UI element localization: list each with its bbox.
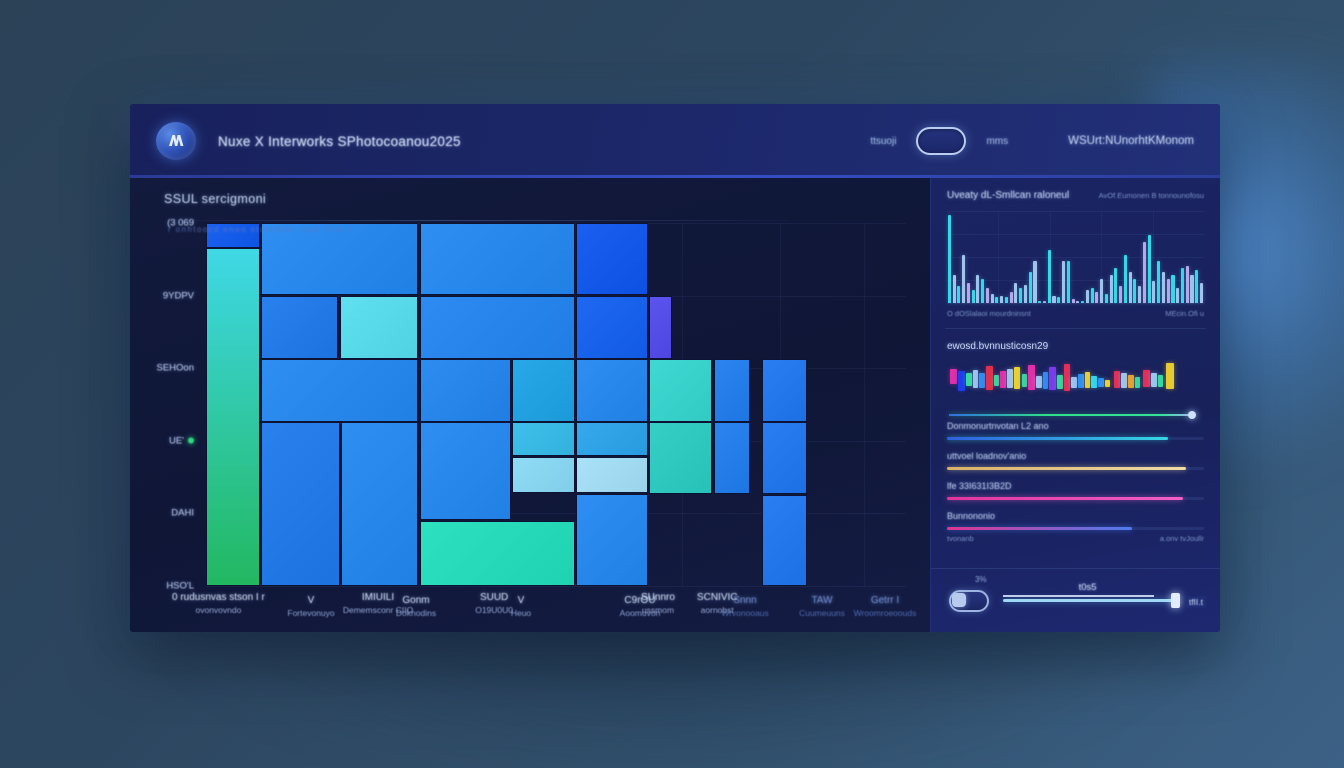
mini-bar[interactable] [1043, 372, 1049, 389]
treemap-tile[interactable] [649, 422, 712, 494]
app-header: Nuxe X Interworks SPhotocoanou2025 ttsuo… [130, 104, 1220, 178]
footer-stat-value: 0 rudusnvas stson I r [172, 592, 265, 603]
sparkline-bar[interactable] [1095, 292, 1098, 303]
treemap-tile[interactable] [420, 223, 575, 295]
treemap-tile[interactable] [341, 422, 418, 586]
footer-stat-value: SUnnro [641, 592, 675, 603]
footer-stat-value: IMIUILI [343, 592, 413, 603]
footer-stat-label: aornobst [697, 605, 738, 615]
footer-stat-label: ussmom [641, 605, 675, 615]
mini-bar[interactable] [1085, 372, 1091, 388]
footer-stat-label: Dememsconr CIIO [343, 605, 413, 615]
sparkline-bar[interactable] [976, 275, 979, 303]
progress-row[interactable]: uttvoel loadnov'anio [931, 451, 1220, 470]
sparkline-bar[interactable] [1171, 275, 1174, 303]
sparkline-bar[interactable] [1124, 255, 1127, 303]
sparkline-bar[interactable] [1152, 281, 1155, 303]
sparkline-chart[interactable] [947, 211, 1204, 303]
mini-bar[interactable] [1135, 377, 1141, 388]
progress-row[interactable]: lfe 33I631I3B2D [931, 481, 1220, 500]
sparkline-bar[interactable] [1081, 301, 1084, 303]
dashboard-card: Nuxe X Interworks SPhotocoanou2025 ttsuo… [130, 104, 1220, 632]
header-toggle-meta: mms [986, 136, 1008, 147]
mini-bar[interactable] [1105, 380, 1111, 387]
toggle-switch-icon[interactable] [949, 590, 989, 612]
progress-track[interactable] [947, 527, 1204, 530]
range-slider[interactable]: t0s5 tfII.t [1003, 599, 1202, 602]
footer-stat-value: SCNIVIC [697, 592, 738, 603]
progress-fill [947, 497, 1183, 500]
treemap-tile[interactable] [420, 296, 575, 359]
header-user-label[interactable]: WSUrt:NUnorhtKMonom [1068, 135, 1194, 147]
footer-stat-value: SUUD [475, 592, 513, 603]
treemap-tile[interactable] [420, 359, 511, 421]
sparkline-bar[interactable] [1148, 235, 1151, 303]
slider-value: tfII.t [1186, 596, 1206, 608]
treemap-tile[interactable] [649, 359, 712, 421]
progress-fill [947, 437, 1168, 440]
mini-bar[interactable] [979, 373, 985, 388]
treemap-tile[interactable] [576, 296, 647, 359]
sparkline-grid-line [947, 257, 1204, 258]
sparkline-bar[interactable] [1014, 283, 1017, 303]
sparkline-bar[interactable] [1043, 301, 1046, 303]
progress-row[interactable]: Bunnononio [931, 511, 1220, 530]
slider-track[interactable] [1003, 599, 1178, 602]
sparkline-bar[interactable] [1038, 301, 1041, 303]
treemap-tile[interactable] [649, 296, 672, 359]
sparkline-bar[interactable] [1100, 279, 1103, 303]
sparkline-bar[interactable] [1143, 242, 1146, 303]
mini-bar[interactable] [1121, 373, 1127, 388]
treemap-tile[interactable] [206, 248, 260, 586]
progress-row-list: Donmonurtnvotan L2 anouttvoel loadnov'an… [931, 421, 1220, 530]
sparkline-bar[interactable] [1005, 297, 1008, 303]
sparkline-bar[interactable] [1190, 275, 1193, 303]
treemap-tile[interactable] [714, 422, 750, 494]
slider-section: 3% t0s5 tfII.t [931, 568, 1220, 632]
sparkline-bar[interactable] [1181, 268, 1184, 303]
y-axis-tick-label: SEHOon [157, 363, 195, 374]
sparkline-bar[interactable] [967, 283, 970, 303]
sparkline-bar[interactable] [1138, 286, 1141, 303]
mini-bar[interactable] [1028, 365, 1035, 390]
sparkline-grid-line-vertical [998, 211, 999, 303]
mini-bar[interactable] [1000, 371, 1006, 388]
treemap-tile[interactable] [714, 359, 750, 421]
mini-bar[interactable] [1036, 376, 1042, 388]
mini-bar[interactable] [1166, 363, 1174, 389]
progress-row[interactable]: Donmonurtnvotan L2 ano [931, 421, 1220, 440]
sparkline-footer-right: MEcin.Ofi u [1165, 309, 1204, 318]
y-axis-tick-label: UE' [169, 435, 184, 446]
mini-bar[interactable] [1071, 377, 1077, 388]
mini-bar[interactable] [1049, 367, 1056, 390]
progress-track[interactable] [947, 497, 1204, 500]
header-chip-label: ttsuoji [870, 136, 896, 147]
mini-bar[interactable] [1091, 376, 1097, 388]
y-axis-tick-label: 9YDPV [163, 290, 194, 301]
footer-stat: 0 rudusnvas stson I rovonvovndo [172, 592, 265, 615]
mini-bar[interactable] [1151, 373, 1157, 387]
sparkline-section: Uveaty dL-Smllcan raloneul AvOf.Eumonen … [931, 178, 1220, 318]
y-axis-tick: SEHOon [157, 363, 195, 374]
sparkline-bar[interactable] [986, 288, 989, 303]
toggle-percent-label: 3% [975, 575, 987, 584]
sparkline-bar[interactable] [1176, 288, 1179, 303]
sparkline-bar[interactable] [1091, 288, 1094, 303]
treemap-tile[interactable] [512, 457, 575, 493]
y-axis-tick-label: DAHI [171, 508, 194, 519]
sparkline-bar[interactable] [972, 290, 975, 303]
mini-bar[interactable] [973, 370, 979, 388]
progress-footer-right: a.onv tvJoullr [1160, 534, 1204, 543]
sparkline-bar[interactable] [1162, 272, 1165, 303]
mini-bar[interactable] [1158, 375, 1164, 387]
footer-stat: SCNIVICaornobst [697, 592, 738, 615]
sparkline-bar[interactable] [1133, 279, 1136, 303]
sparkline-bar[interactable] [948, 215, 951, 303]
sparkline-grid-line [947, 211, 1204, 212]
sparkline-bar[interactable] [962, 255, 965, 303]
y-axis-tick: 9YDPV [163, 290, 194, 301]
sidebar-panel: Uveaty dL-Smllcan raloneul AvOf.Eumonen … [930, 178, 1220, 632]
treemap-tile[interactable] [512, 359, 575, 421]
treemap-tile[interactable] [340, 296, 418, 359]
sparkline-bar[interactable] [1052, 296, 1055, 303]
treemap-tile[interactable] [512, 422, 575, 456]
footer-note: r onhtoocd onoo otomtkthr rina' t'irn r [168, 225, 353, 234]
treemap-tile[interactable] [261, 296, 338, 359]
sparkline-bar[interactable] [957, 286, 960, 303]
treemap-tile[interactable] [261, 422, 339, 586]
chart-panel: SSUL sercigmoni (3 0699YDPVSEHOonUE'DAHI… [130, 178, 930, 632]
mini-bar[interactable] [1014, 367, 1021, 389]
progress-row-label: uttvoel loadnov'anio [947, 451, 1204, 461]
brand-logo-icon[interactable] [156, 122, 196, 160]
mini-bar[interactable] [1007, 369, 1013, 388]
sparkline-bar[interactable] [1029, 272, 1032, 303]
treemap-tile[interactable] [576, 422, 647, 456]
sparkline-bar[interactable] [1076, 301, 1079, 303]
mini-progress-line [949, 414, 1190, 416]
progress-fill [947, 467, 1186, 470]
mini-bar-chart[interactable] [947, 360, 1204, 410]
sparkline-bar[interactable] [1072, 299, 1075, 303]
treemap-tile[interactable] [576, 494, 647, 586]
sparkline-bar[interactable] [1010, 292, 1013, 303]
sparkline-grid-line [947, 303, 1204, 304]
footer-stat-label: ovonvovndo [172, 605, 265, 615]
progress-footer: tvonanb a.onv tvJoullr [931, 534, 1220, 543]
sparkline-title: Uveaty dL-Smllcan raloneul [947, 190, 1069, 201]
mini-bar[interactable] [1143, 370, 1150, 387]
sparkline-bar[interactable] [953, 275, 956, 303]
treemap-tile[interactable] [576, 457, 647, 493]
sparkline-bar[interactable] [1067, 261, 1070, 303]
treemap-tile[interactable] [261, 359, 418, 421]
header-controls: ttsuoji mms WSUrt:NUnorhtKMonom [870, 127, 1194, 155]
progress-fill [947, 527, 1132, 530]
footer-stat: IMIUILIDememsconr CIIO [343, 592, 413, 615]
footer-stat: SUnnroussmom [641, 592, 675, 615]
treemap-tile[interactable] [420, 521, 575, 586]
progress-footer-left: tvonanb [947, 534, 974, 543]
mini-bar[interactable] [950, 369, 958, 384]
sparkline-grid-line [947, 280, 1204, 281]
mini-bar[interactable] [986, 366, 993, 390]
sparkline-bar[interactable] [995, 297, 998, 303]
footer-stats-row: 0 rudusnvas stson I rovonvovndoIMIUILIDe… [130, 588, 930, 632]
progress-row-label: Donmonurtnvotan L2 ano [947, 421, 1204, 431]
footer-stat-label: O19U0U0 [475, 605, 513, 615]
y-axis-tick: DAHI [171, 508, 194, 519]
treemap-tile[interactable] [762, 495, 807, 586]
sparkline-bar[interactable] [1000, 296, 1003, 303]
sparkline-bar[interactable] [1129, 272, 1132, 303]
sparkline-bar[interactable] [1200, 283, 1203, 303]
mini-chart-section: ewosd.bvnnusticosn29 [931, 329, 1220, 410]
mini-bar[interactable] [958, 371, 965, 391]
footer-divider [160, 220, 790, 221]
sparkline-meta: AvOf.Eumonen B tonnounofosu [1099, 191, 1204, 200]
sparkline-bar[interactable] [981, 279, 984, 303]
y-axis-marker-dot [188, 438, 194, 444]
sparkline-grid-line [947, 234, 1204, 235]
slider-handle[interactable] [1171, 593, 1180, 608]
mini-bar[interactable] [966, 373, 972, 386]
sparkline-bar[interactable] [1057, 297, 1060, 303]
mini-chart-title: ewosd.bvnnusticosn29 [947, 341, 1204, 352]
progress-row-label: lfe 33I631I3B2D [947, 481, 1204, 491]
sparkline-bar[interactable] [1195, 270, 1198, 303]
header-toggle[interactable] [916, 127, 966, 155]
app-title: Nuxe X Interworks SPhotocoanou2025 [218, 134, 461, 149]
progress-track[interactable] [947, 437, 1204, 440]
sparkline-bar[interactable] [1186, 266, 1189, 303]
card-body: SSUL sercigmoni (3 0699YDPVSEHOonUE'DAHI… [130, 178, 1220, 632]
mini-bar[interactable] [1114, 371, 1121, 388]
sparkline-bar[interactable] [1167, 279, 1170, 303]
sparkline-bar[interactable] [1119, 286, 1122, 303]
footer-stat: SUUDO19U0U0 [475, 592, 513, 615]
sparkline-bar[interactable] [1048, 250, 1051, 303]
sparkline-bar[interactable] [1105, 294, 1108, 303]
treemap-tile[interactable] [762, 359, 807, 421]
sparkline-bar[interactable] [1062, 261, 1065, 303]
sparkline-bar[interactable] [1086, 290, 1089, 303]
y-axis-tick: UE' [169, 435, 194, 446]
sparkline-bar[interactable] [1019, 288, 1022, 303]
progress-track[interactable] [947, 467, 1204, 470]
slider-label: t0s5 [1079, 582, 1097, 593]
mini-bar[interactable] [1057, 375, 1063, 389]
mini-bar[interactable] [1098, 378, 1104, 387]
mini-bar[interactable] [1078, 374, 1084, 388]
sparkline-footer-left: O dOSlalaoi mourdninsnt [947, 309, 1031, 318]
treemap-tile[interactable] [576, 223, 647, 295]
treemap-tile[interactable] [762, 422, 807, 494]
sparkline-bar[interactable] [1110, 275, 1113, 303]
treemap-plot[interactable]: (3 0699YDPVSEHOonUE'DAHIHSO'LVFortevonuy… [206, 223, 906, 586]
mini-bar[interactable] [994, 375, 1000, 386]
sparkline-bar[interactable] [1024, 285, 1027, 303]
grid-line-vertical [864, 223, 865, 586]
sparkline-bar[interactable] [1157, 261, 1160, 303]
progress-row-label: Bunnononio [947, 511, 1204, 521]
treemap-tile[interactable] [420, 422, 511, 520]
mini-bar[interactable] [1064, 364, 1071, 391]
treemap-tile[interactable] [576, 359, 647, 421]
mini-bar[interactable] [1022, 374, 1028, 387]
sparkline-bar[interactable] [991, 294, 994, 303]
grid-line [206, 586, 906, 587]
sparkline-bar[interactable] [1033, 261, 1036, 303]
sparkline-bar[interactable] [1114, 268, 1117, 303]
mini-bar[interactable] [1128, 375, 1134, 388]
chart-title: SSUL sercigmoni [164, 192, 266, 206]
